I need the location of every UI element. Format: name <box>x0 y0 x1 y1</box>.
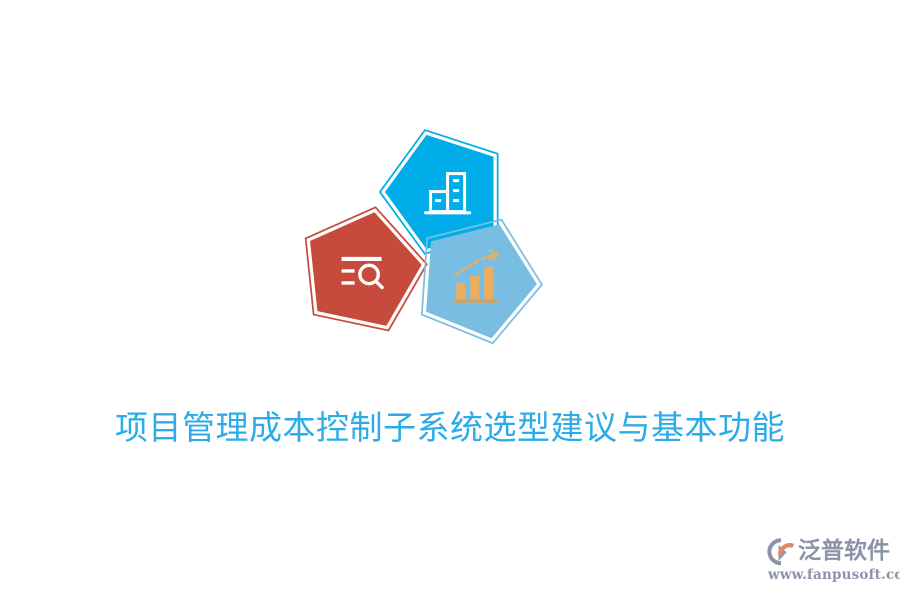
brand-website-url: www.fanpusoft.com <box>768 567 900 583</box>
brand-logo[interactable]: 泛普软件 www.fanpusoft.com <box>766 536 890 584</box>
page-title: 项目管理成本控制子系统选型建议与基本功能 <box>0 405 900 451</box>
slide-canvas: 项目管理成本控制子系统选型建议与基本功能 泛普软件 www.fanpusoft.… <box>0 0 900 600</box>
pentagon-cluster-graphic <box>290 108 560 363</box>
fanpu-logo-mark-icon <box>766 537 796 566</box>
brand-name: 泛普软件 <box>798 538 890 564</box>
brand-logo-row: 泛普软件 <box>766 536 890 566</box>
